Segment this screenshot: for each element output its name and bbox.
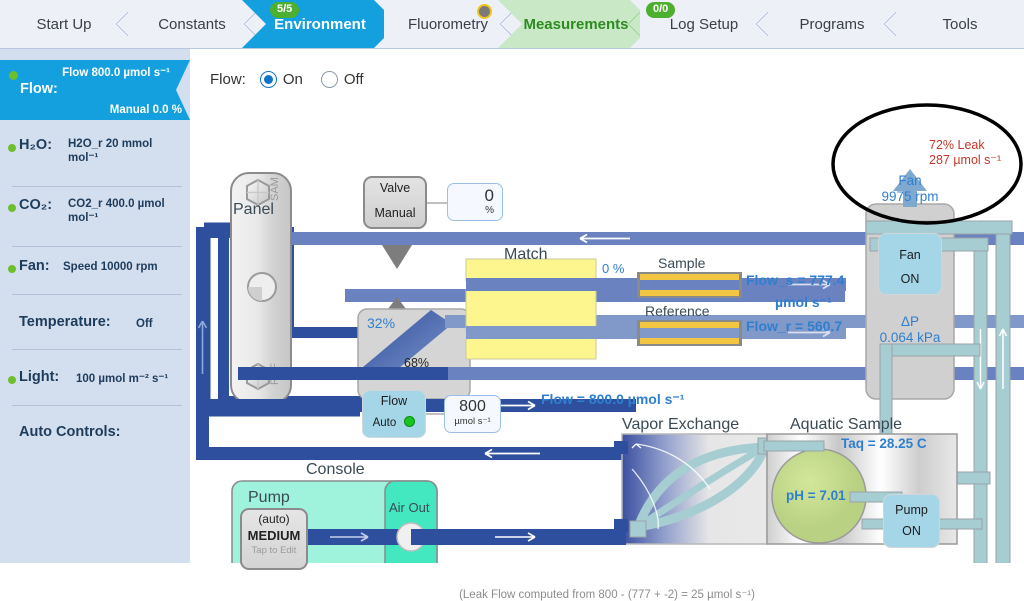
sidebar: Flow 800.0 µmol s⁻¹ Flow: Manual 0.0 % H… xyxy=(0,49,190,563)
footer-note: (Leak Flow computed from 800 - (777 + -2… xyxy=(190,587,1024,601)
pump-edit-hint: Tap to Edit xyxy=(242,544,306,557)
sidebar-flow-top-value: Flow 800.0 µmol s⁻¹ xyxy=(62,65,170,79)
fan-button-state: ON xyxy=(879,272,941,286)
tab-label: Constants xyxy=(158,16,226,33)
pump-title: Pump xyxy=(248,489,290,507)
flow-status-led-icon xyxy=(404,416,415,427)
tab-programs[interactable]: Programs xyxy=(768,0,896,48)
leak-annotation: 72% Leak 287 µmol s⁻¹ xyxy=(929,138,1001,168)
sidebar-item-label: H₂O: xyxy=(19,137,52,153)
pump-level: MEDIUM xyxy=(242,527,306,544)
sidebar-item-fan[interactable]: Fan: Speed 10000 rpm xyxy=(0,258,190,284)
delta-p-label: ΔP xyxy=(866,314,954,330)
valve-value: 0 xyxy=(448,186,494,205)
tab-label: Programs xyxy=(799,16,864,33)
tab-measurements[interactable]: Measurements xyxy=(512,0,640,48)
panel-title: Panel xyxy=(233,201,274,219)
sidebar-item-label: Fan: xyxy=(19,258,50,274)
sidebar-item-label: CO₂: xyxy=(19,197,52,213)
tab-label: Measurements xyxy=(523,16,628,33)
main-content: Flow: On Off xyxy=(190,49,1024,563)
vapor-exchange-title: Vapor Exchange xyxy=(622,416,739,434)
status-dot-icon xyxy=(8,265,16,273)
delta-p-value: 0.064 kPa xyxy=(866,330,954,346)
tab-constants[interactable]: Constants xyxy=(128,0,256,48)
tab-tools[interactable]: Tools xyxy=(896,0,1024,48)
console-title: Console xyxy=(306,461,365,479)
sidebar-item-auto-controls[interactable]: Auto Controls: xyxy=(0,424,190,450)
tab-badge-environment: 5/5 xyxy=(270,2,299,18)
flow-control-title: Flow xyxy=(363,394,425,408)
sidebar-item-label: Temperature: xyxy=(19,314,111,330)
tab-environment[interactable]: 5/5 Environment xyxy=(256,0,384,48)
sidebar-flow-title: Flow: xyxy=(20,81,58,97)
sidebar-item-value-unit: mol⁻¹ xyxy=(68,151,98,165)
flow-value: 800 xyxy=(445,398,500,416)
match-title: Match xyxy=(504,246,548,264)
taq-readout: Taq = 28.25 C xyxy=(841,436,927,451)
status-dot-icon xyxy=(9,71,18,80)
aquatic-sample-title: Aquatic Sample xyxy=(790,416,902,434)
valve-split-percent: 0 % xyxy=(602,261,624,276)
tab-label: Fluorometry xyxy=(408,16,488,33)
flow-units-label: µmol s⁻¹ xyxy=(775,294,832,311)
status-dot-icon xyxy=(8,204,16,212)
sidebar-item-light[interactable]: Light: 100 µmol m⁻² s⁻¹ xyxy=(0,369,190,395)
flow-s-readout: Flow_s = 777.4 xyxy=(746,272,844,288)
flow-auto-button[interactable]: Flow Auto xyxy=(362,390,426,438)
delta-p-readout: ΔP 0.064 kPa xyxy=(866,314,954,346)
svg-text:SAM: SAM xyxy=(269,177,281,201)
sidebar-divider xyxy=(12,246,182,247)
leak-line-1: 72% Leak xyxy=(929,138,1001,153)
fan-readout: Fan 9975 rpm xyxy=(866,173,954,205)
flow-connector xyxy=(426,413,444,415)
sidebar-divider xyxy=(12,349,182,350)
sidebar-item-value-unit: mol⁻¹ xyxy=(68,211,98,225)
sidebar-flow-bottom-value: Manual 0.0 % xyxy=(110,104,182,116)
tab-fluorometry[interactable]: Fluorometry xyxy=(384,0,512,48)
pipe-network-diagram: SAM REF xyxy=(190,49,1024,563)
status-dot-icon xyxy=(8,376,16,384)
tab-start-up[interactable]: Start Up xyxy=(0,0,128,48)
fan-on-button[interactable]: Fan ON xyxy=(878,233,942,295)
valve-button[interactable]: Valve Manual xyxy=(363,176,427,229)
sidebar-divider xyxy=(12,186,182,187)
sidebar-item-value: Speed 10000 rpm xyxy=(63,260,158,274)
aquatic-pump-button[interactable]: Pump ON xyxy=(883,494,940,548)
valve-value-field[interactable]: 0 % xyxy=(447,183,503,221)
sidebar-item-co2[interactable]: CO₂: CO2_r 400.0 µmol mol⁻¹ xyxy=(0,197,190,239)
flow-total-readout: Flow = 800.0 µmol s⁻¹ xyxy=(541,391,684,408)
aquatic-pump-title: Pump xyxy=(884,503,939,517)
status-dot-icon xyxy=(8,144,16,152)
tab-badge-log-setup: 0/0 xyxy=(646,2,675,18)
valve-mode: Manual xyxy=(365,206,425,220)
leak-line-2: 287 µmol s⁻¹ xyxy=(929,153,1001,168)
sidebar-divider xyxy=(12,294,182,295)
sidebar-divider xyxy=(12,405,182,406)
flow-unit: µmol s⁻¹ xyxy=(445,416,500,427)
valve-title: Valve xyxy=(365,181,425,195)
split-top-percent: 32% xyxy=(367,315,395,331)
sidebar-item-value: CO2_r 400.0 µmol xyxy=(68,197,165,211)
tab-label: Log Setup xyxy=(670,16,738,33)
sample-title: Sample xyxy=(658,255,705,271)
tab-label: Environment xyxy=(274,16,366,33)
flow-value-field[interactable]: 800 µmol s⁻¹ xyxy=(444,395,501,433)
tab-label: Start Up xyxy=(36,16,91,33)
sidebar-item-label: Light: xyxy=(19,369,59,385)
sidebar-item-value: H2O_r 20 mmol xyxy=(68,137,152,151)
valve-unit: % xyxy=(448,205,494,216)
flow-r-readout: Flow_r = 560.7 xyxy=(746,318,842,334)
tab-label: Tools xyxy=(942,16,977,33)
valve-connector xyxy=(427,202,447,204)
main-tab-bar: Start Up Constants 5/5 Environment Fluor… xyxy=(0,0,1024,49)
air-out-label: Air Out xyxy=(389,500,429,515)
fan-button-title: Fan xyxy=(879,248,941,262)
sidebar-item-value: 100 µmol m⁻² s⁻¹ xyxy=(76,372,168,386)
sidebar-item-label: Auto Controls: xyxy=(19,424,120,440)
sidebar-item-h2o[interactable]: H₂O: H2O_r 20 mmol mol⁻¹ xyxy=(0,137,190,179)
status-dot-icon xyxy=(477,4,492,19)
fan-title: Fan xyxy=(866,173,954,189)
tab-log-setup[interactable]: 0/0 Log Setup xyxy=(640,0,768,48)
pump-mode: (auto) xyxy=(242,512,306,527)
pump-setting-button[interactable]: (auto) MEDIUM Tap to Edit xyxy=(240,508,308,570)
sidebar-item-flow[interactable]: Flow 800.0 µmol s⁻¹ Flow: Manual 0.0 % xyxy=(0,60,190,120)
fan-rpm: 9975 rpm xyxy=(866,189,954,205)
aquatic-pump-state: ON xyxy=(884,524,939,538)
split-bottom-percent: 68% xyxy=(404,356,429,370)
reference-title: Reference xyxy=(645,303,710,319)
sidebar-item-temperature[interactable]: Temperature: Off xyxy=(0,314,190,340)
flow-control-mode: Auto xyxy=(373,417,397,429)
sidebar-item-value: Off xyxy=(136,317,153,331)
ph-readout: pH = 7.01 xyxy=(786,488,846,503)
